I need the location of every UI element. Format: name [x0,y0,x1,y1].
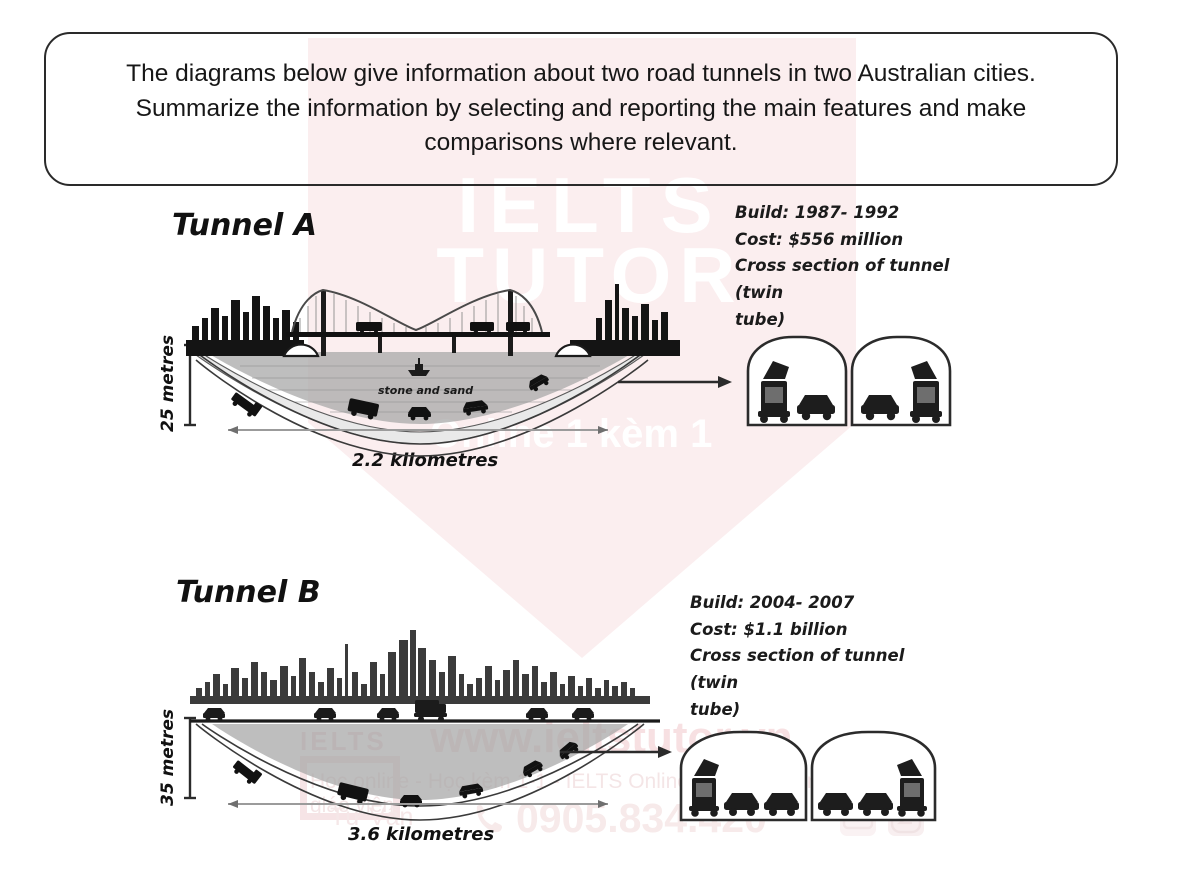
vehicle-truck [230,757,262,787]
diagram-page: IELTS TUTOR Online 1 kèm 1 IELTS www.iel… [0,0,1200,870]
tunnel-b-cross-section [678,722,938,834]
skyline-b [190,630,650,704]
tunnel-b-depth-ruler [184,718,196,798]
prompt-text: The diagrams below give information abou… [76,57,1086,161]
vehicle-car [377,708,399,721]
vehicle-car [526,708,548,721]
vehicle-car [203,708,225,721]
vehicle-car [572,708,594,721]
prompt-box: The diagrams below give information abou… [44,32,1118,186]
vehicle-car [314,708,336,721]
tunnel-b-ground-mass [212,724,628,800]
